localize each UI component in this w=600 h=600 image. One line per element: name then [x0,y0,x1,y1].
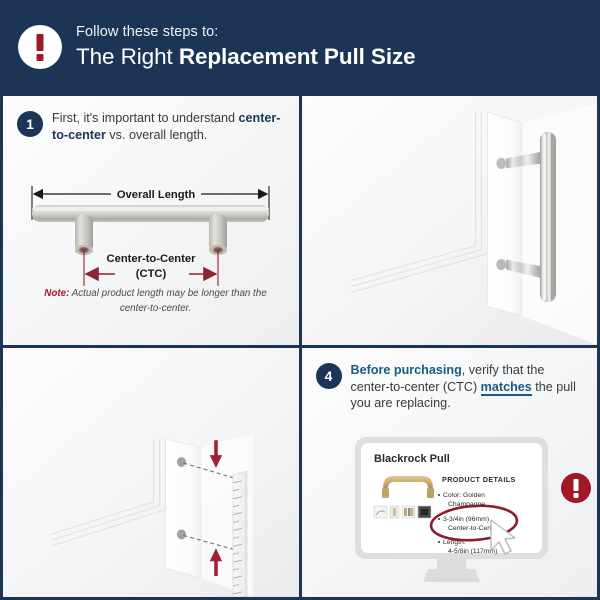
pull-diagram: Overall Length [23,174,278,304]
step-panel-4: 4 Before purchasing, verify that the cen… [302,348,598,597]
screw-hole-top [496,158,506,169]
step-panel-2: 2 If you are replacing a pull, start by … [302,96,598,345]
step-4-matches-link[interactable]: matches [481,380,532,396]
step-panel-3: 3 Measure the distance between the cente… [3,348,299,597]
product-title: Blackrock Pull [374,453,450,465]
infographic-root: Follow these steps to: The Right Replace… [0,0,600,600]
screw-hole-bottom-3 [177,529,186,539]
step-4-heading: 4 Before purchasing, verify that the cen… [316,362,588,412]
header-bar: Follow these steps to: The Right Replace… [0,0,600,93]
exclamation-dot [37,54,44,61]
step-panel-1: 1 First, it's important to understand ce… [3,96,299,345]
header-text-block: Follow these steps to: The Right Replace… [76,25,600,69]
step-number-badge-1: 1 [17,111,43,137]
page-title: The Right Replacement Pull Size [76,46,600,69]
detail-length-line2: 4-5/8in (117mm) [448,548,497,555]
pull-post-left [75,214,93,255]
alert-exclamation-stem [573,479,578,491]
screw-hole-bottom [496,259,506,270]
steps-grid: 1 First, it's important to understand ce… [0,93,600,600]
step-1-line-b: vs. overall length. [106,128,208,142]
header-kicker: Follow these steps to: [76,25,600,40]
note-label: Note: [44,288,69,299]
alert-exclamation-dot [573,493,578,498]
cabinet-door-face [487,112,522,316]
step-number-badge-4: 4 [316,363,342,389]
step-4-text: Before purchasing, verify that the cente… [351,362,586,412]
step-1-text: First, it's important to understand cent… [52,110,287,143]
step-1-note: Note: Actual product length may be longe… [43,286,268,316]
step-1-line-a: First, it's important to understand [52,111,235,125]
step-1-heading: 1 First, it's important to understand ce… [17,110,289,143]
exclamation-stem [37,34,44,51]
cabinet-scene [302,96,597,345]
cabinet-pull-bar [539,132,555,303]
exclamation-circle-icon-alert [561,473,591,503]
ctc-label-line2: (CTC) [136,268,167,280]
measuring-scene [3,348,298,597]
ctc-label-line1: Center-to-Center [107,253,197,265]
note-text: Actual product length may be longer than… [69,288,266,314]
step-4-emphasis: Before purchasing [351,363,462,377]
page-title-bold: Replacement Pull Size [179,44,416,69]
overall-length-label: Overall Length [117,189,195,201]
page-title-light: The Right [76,44,179,69]
exclamation-circle-icon [18,25,62,69]
monitor-base [423,569,480,582]
pull-post-right [209,214,227,255]
product-details-heading: PRODUCT DETAILS [442,475,516,484]
detail-color-line1: Color: Golden [443,492,485,499]
center-to-center-dimension: Center-to-Center (CTC) [84,250,218,286]
screw-hole-top-3 [177,457,186,467]
monitor-mockup: Blackrock Pull [349,434,554,589]
product-thumbnails[interactable] [374,506,431,518]
detail-ctc-line1: 3-3/4in (96mm) [443,516,489,523]
